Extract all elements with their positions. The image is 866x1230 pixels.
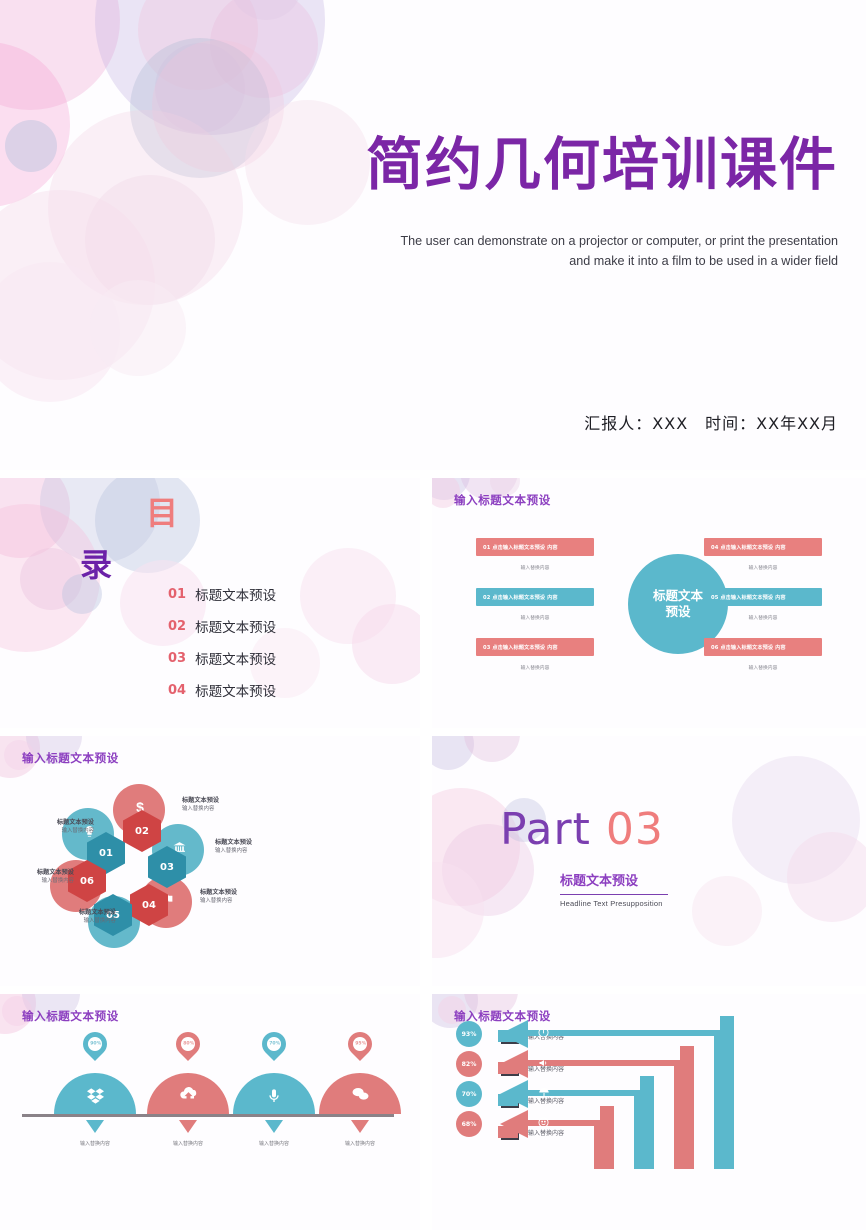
section-subtitle-english: Headline Text Presupposition: [560, 899, 663, 908]
hub-center-line-2: 预设: [665, 604, 690, 620]
toc-item[interactable]: 03 标题文本预设: [168, 648, 276, 668]
hub-center-line-1: 标题文本: [653, 588, 703, 604]
section-part-word: Part: [500, 804, 591, 855]
dome-arrow-4: [351, 1120, 369, 1133]
bg-bubble: [0, 190, 155, 380]
bg-bubble: [352, 604, 420, 684]
toc-char-lu: 录: [80, 540, 112, 586]
flower-hex-number: 02: [135, 826, 149, 837]
bg-bubble: [230, 0, 302, 20]
bg-bubble: [432, 736, 474, 770]
arrow-pct-4[interactable]: 68%: [456, 1111, 482, 1137]
toc-item[interactable]: 04 标题文本预设: [168, 680, 276, 700]
arrow-pct-value: 93%: [462, 1031, 477, 1038]
bg-bubble: [732, 756, 860, 884]
dome-label-4: 输入替换内容: [317, 1140, 403, 1147]
bg-bubble: [0, 262, 120, 402]
hub-bar-label: 03 点击输入标题文本预设 内容: [483, 644, 558, 651]
arrow-pct-value: 82%: [462, 1061, 477, 1068]
bg-bubble: [95, 0, 325, 135]
smiley-icon: [538, 1117, 549, 1130]
toc-item[interactable]: 02 标题文本预设: [168, 616, 276, 636]
dome-pin-value: 90%: [90, 1042, 101, 1047]
flower-label-04: 标题文本预设 输入替换内容: [200, 888, 278, 905]
hub-bar-sub-04: 输入替换内容: [704, 564, 822, 571]
dome-label-2: 输入替换内容: [145, 1140, 231, 1147]
flower-label-05: 标题文本预设 输入替换内容: [38, 908, 116, 925]
presentation-preview-page: 简约几何培训课件 The user can demonstrate on a p…: [0, 0, 866, 1230]
subtitle-line-1: The user can demonstrate on a projector …: [278, 232, 838, 252]
bg-bubble: [210, 0, 318, 98]
microphone-icon: [266, 1088, 282, 1108]
dome-pin-4[interactable]: 95%: [343, 1027, 377, 1061]
arrow-pct-1[interactable]: 93%: [456, 1021, 482, 1047]
chat-bubble-icon: [351, 1085, 370, 1108]
hub-bar-label: 01 点击输入标题文本预设 内容: [483, 544, 558, 551]
dome-arrow-1: [86, 1120, 104, 1133]
flower-hex-number: 01: [99, 848, 113, 859]
title-subtitle: The user can demonstrate on a projector …: [278, 232, 838, 271]
bg-bubble: [432, 862, 484, 958]
hub-bar-sub-03: 输入替换内容: [476, 664, 594, 671]
bg-bubble: [0, 478, 70, 558]
dome-pin-value: 80%: [183, 1042, 194, 1047]
hub-bar-sub-01: 输入替换内容: [476, 564, 594, 571]
toc-list: 01 标题文本预设 02 标题文本预设 03 标题文本预设 04 标题文本预设: [168, 584, 276, 712]
hub-bar-04[interactable]: 04 点击输入标题文本预设 内容: [704, 538, 822, 556]
arrow-pct-2[interactable]: 82%: [456, 1051, 482, 1077]
subtitle-line-2: and make it into a film to be used in a …: [278, 252, 838, 272]
page-title: 简约几何培训课件: [0, 134, 838, 198]
hub-bar-01[interactable]: 01 点击输入标题文本预设 内容: [476, 538, 594, 556]
umbrella-icon: [538, 1087, 550, 1101]
toc-item-label: 标题文本预设: [195, 648, 276, 668]
bg-bubble: [138, 0, 258, 90]
flower-label-01: 标题文本预设 输入替换内容: [16, 818, 94, 835]
megaphone-icon: [538, 1057, 550, 1071]
flower-label-02: 标题文本预设 输入替换内容: [182, 796, 260, 813]
arrow-pct-value: 70%: [462, 1091, 477, 1098]
dropbox-icon: [87, 1087, 104, 1108]
toc-item[interactable]: 01 标题文本预设: [168, 584, 276, 604]
slide-flower-diagram: 输入标题文本预设 $ 01 02 03 04 05 06: [0, 736, 420, 986]
dome-pin-value: 70%: [269, 1042, 280, 1047]
hub-bar-05[interactable]: 05 点击输入标题文本预设 内容: [704, 588, 822, 606]
flower-label-06: 标题文本预设 输入替换内容: [0, 868, 74, 885]
arrow-pct-value: 68%: [462, 1121, 477, 1128]
hub-bar-label: 06 点击输入标题文本预设 内容: [711, 644, 786, 651]
bg-bubble: [90, 280, 186, 376]
dome-pin-value: 95%: [355, 1042, 366, 1047]
toc-item-label: 标题文本预设: [195, 584, 276, 604]
toc-item-number: 01: [168, 587, 186, 602]
slide-header-label: 输入标题文本预设: [22, 1008, 119, 1024]
flower-label-title: 标题文本预设: [0, 868, 74, 877]
section-subtitle: 标题文本预设: [560, 870, 668, 895]
section-part-number: 03: [606, 804, 664, 855]
dome-arrow-2: [179, 1120, 197, 1133]
dome-pin-2[interactable]: 80%: [171, 1027, 205, 1061]
slide-header-label: 输入标题文本预设: [454, 492, 551, 508]
toc-item-label: 标题文本预设: [195, 680, 276, 700]
legend-swatch: [498, 1094, 518, 1106]
hub-bar-sub-06: 输入替换内容: [704, 664, 822, 671]
toc-item-label: 标题文本预设: [195, 616, 276, 636]
flower-label-sub: 输入替换内容: [42, 878, 74, 884]
toc-item-number: 02: [168, 619, 186, 634]
bg-bubble: [300, 548, 396, 644]
flower-hex-number: 03: [160, 862, 174, 873]
baseline-axis: [22, 1114, 394, 1117]
bg-bubble: [464, 736, 520, 762]
dome-arrow-3: [265, 1120, 283, 1133]
hub-bar-sub-05: 输入替换内容: [704, 614, 822, 621]
hub-bar-06[interactable]: 06 点击输入标题文本预设 内容: [704, 638, 822, 656]
slide-header-label: 输入标题文本预设: [22, 750, 119, 766]
bg-bubble: [155, 43, 245, 133]
flower-label-title: 标题文本预设: [38, 908, 116, 917]
slide-section-divider: Part 03 标题文本预设 Headline Text Presupposit…: [432, 736, 866, 986]
bg-bubble: [692, 876, 762, 946]
flower-label-sub: 输入替换内容: [200, 898, 232, 904]
flower-label-title: 标题文本预设: [215, 838, 293, 847]
bg-bubble: [20, 548, 82, 610]
flower-hex-number: 04: [142, 900, 156, 911]
bg-bubble: [0, 0, 120, 110]
flower-label-sub: 输入替换内容: [62, 828, 94, 834]
flower-label-sub: 输入替换内容: [84, 918, 116, 924]
toc-item-number: 03: [168, 651, 186, 666]
dome-label-3: 输入替换内容: [231, 1140, 317, 1147]
dome-pin-1[interactable]: 90%: [78, 1027, 112, 1061]
dome-pin-3[interactable]: 70%: [257, 1027, 291, 1061]
legend-swatch: [498, 1030, 518, 1042]
toc-item-number: 04: [168, 683, 186, 698]
hub-bar-03[interactable]: 03 点击输入标题文本预设 内容: [476, 638, 594, 656]
flower-label-sub: 输入替换内容: [182, 806, 214, 812]
flower-label-sub: 输入替换内容: [215, 848, 247, 854]
presenter-line: 汇报人：XXX 时间：XX年XX月: [584, 410, 838, 434]
cloud-upload-icon: [179, 1085, 198, 1108]
slide-table-of-contents: 目 录 01 标题文本预设 02 标题文本预设 03 标题文本预设 04 标题文…: [0, 478, 420, 728]
flower-label-title: 标题文本预设: [200, 888, 278, 897]
arrow-pct-3[interactable]: 70%: [456, 1081, 482, 1107]
flower-label-title: 标题文本预设: [16, 818, 94, 827]
dome-label-1: 输入替换内容: [52, 1140, 138, 1147]
flower-label-title: 标题文本预设: [182, 796, 260, 805]
hub-bar-label: 04 点击输入标题文本预设 内容: [711, 544, 786, 551]
slide-dome-chart: 输入标题文本预设 90% 输入替换内容 80% 输入替换内容 70% 输入替换内…: [0, 994, 420, 1230]
flower-hex-number: 06: [80, 876, 94, 887]
dome-shape-4[interactable]: [319, 1073, 401, 1114]
bg-bubble: [787, 832, 866, 922]
hub-bar-02[interactable]: 02 点击输入标题文本预设 内容: [476, 588, 594, 606]
dome-shape-1[interactable]: [54, 1073, 136, 1114]
legend-swatch: [498, 1062, 518, 1074]
hub-bar-label: 02 点击输入标题文本预设 内容: [483, 594, 558, 601]
dome-shape-3[interactable]: [233, 1073, 315, 1114]
flower-label-03: 标题文本预设 输入替换内容: [215, 838, 293, 855]
hub-bar-label: 05 点击输入标题文本预设 内容: [711, 594, 786, 601]
slide-hub-diagram: 输入标题文本预设 标题文本 预设 01 点击输入标题文本预设 内容 输入替换内容…: [432, 478, 866, 728]
slide-title: 简约几何培训课件 The user can demonstrate on a p…: [0, 0, 866, 470]
power-icon: [538, 1027, 549, 1040]
toc-char-mu: 目: [146, 488, 178, 534]
section-part-title: Part 03: [500, 804, 664, 855]
dome-shape-2[interactable]: [147, 1073, 229, 1114]
legend-swatch: [498, 1126, 518, 1138]
hub-bar-sub-02: 输入替换内容: [476, 614, 594, 621]
slide-arrow-chart: 输入标题文本预设 输入替换内容 输入替换内容 输入替换内容 输入替换内容: [432, 994, 866, 1230]
